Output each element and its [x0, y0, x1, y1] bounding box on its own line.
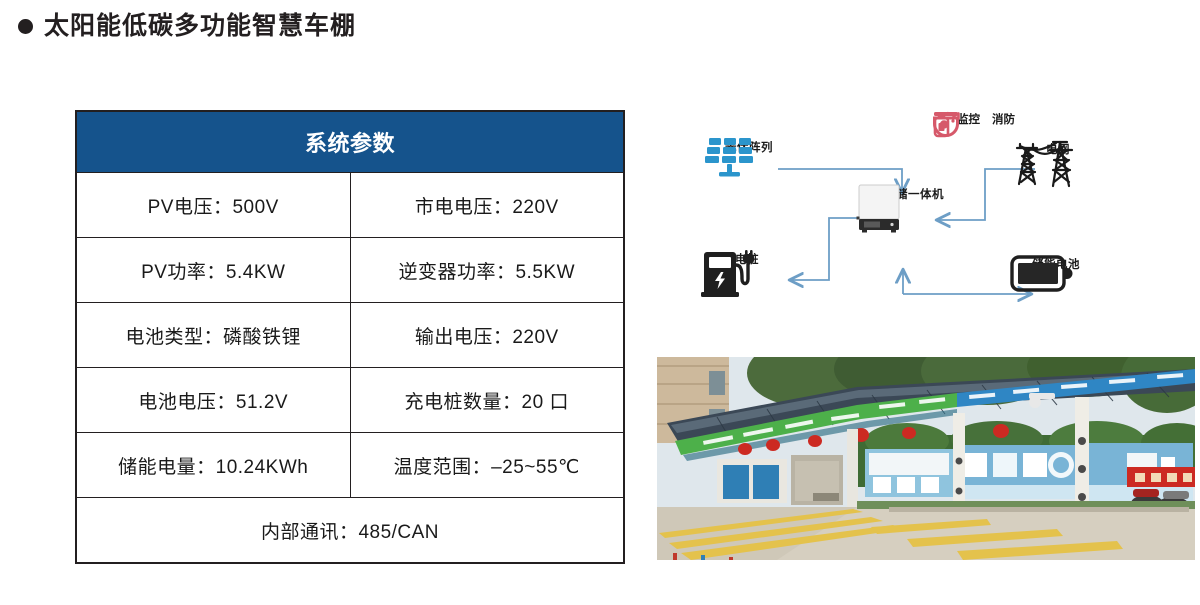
cell-battery-type: 电池类型：磷酸铁锂 — [76, 303, 350, 368]
table-row: PV电压：500V 市电电压：220V — [76, 173, 624, 238]
cell-internal-communication: 内部通讯：485/CAN — [76, 498, 624, 564]
cell-mains-voltage: 市电电压：220V — [350, 173, 624, 238]
table-header-row: 系统参数 — [76, 111, 624, 173]
cell-battery-voltage: 电池电压：51.2V — [76, 368, 350, 433]
carport-photo-image — [657, 357, 1195, 560]
page-title-text: 太阳能低碳多功能智慧车棚 — [44, 14, 356, 39]
table-row: 电池电压：51.2V 充电桩数量：20 口 — [76, 368, 624, 433]
slide-page: 太阳能低碳多功能智慧车棚 系统参数 PV电压：500V 市电电压：220V PV… — [0, 0, 1200, 605]
carport-photo — [657, 357, 1195, 560]
node-storage-battery: 储能电池 — [1010, 253, 1102, 272]
node-fire-protection-label: 消防 — [992, 111, 1015, 127]
battery-icon — [1010, 253, 1074, 295]
node-power-grid: 电网 — [1012, 138, 1104, 157]
node-monitoring: 监控 — [957, 110, 980, 127]
node-inverter-unit: 光储一体机 — [855, 183, 973, 202]
node-charging-pile: 充电桩 — [695, 248, 787, 267]
solar-panel-icon — [703, 136, 765, 180]
cell-pv-voltage: PV电压：500V — [76, 173, 350, 238]
cell-temperature-range: 温度范围：–25~55℃ — [350, 433, 624, 498]
table-row: 内部通讯：485/CAN — [76, 498, 624, 564]
fire-extinguisher-icon — [930, 110, 960, 138]
bullet-dot-icon — [18, 19, 33, 34]
inverter-cabinet-icon — [855, 183, 903, 235]
node-pv-array: 光伏阵列 — [703, 136, 795, 155]
table-row: PV功率：5.4KW 逆变器功率：5.5KW — [76, 238, 624, 303]
cell-pv-power: PV功率：5.4KW — [76, 238, 350, 303]
table-header-title: 系统参数 — [76, 111, 624, 173]
table-row: 储能电量：10.24KWh 温度范围：–25~55℃ — [76, 433, 624, 498]
charging-pile-icon — [695, 248, 759, 300]
cell-storage-capacity: 储能电量：10.24KWh — [76, 433, 350, 498]
system-flow-diagram: 光伏阵列 监控 — [655, 108, 1195, 348]
page-title: 太阳能低碳多功能智慧车棚 — [18, 14, 356, 39]
node-safety-devices: 监控 消防 — [930, 110, 1042, 127]
cell-output-voltage: 输出电压：220V — [350, 303, 624, 368]
cell-inverter-power: 逆变器功率：5.5KW — [350, 238, 624, 303]
system-parameters-table: 系统参数 PV电压：500V 市电电压：220V PV功率：5.4KW 逆变器功… — [75, 110, 625, 564]
table-row: 电池类型：磷酸铁锂 输出电压：220V — [76, 303, 624, 368]
transmission-tower-icon — [1012, 138, 1084, 190]
node-fire-protection: 消防 — [992, 110, 1015, 127]
cell-charger-count: 充电桩数量：20 口 — [350, 368, 624, 433]
